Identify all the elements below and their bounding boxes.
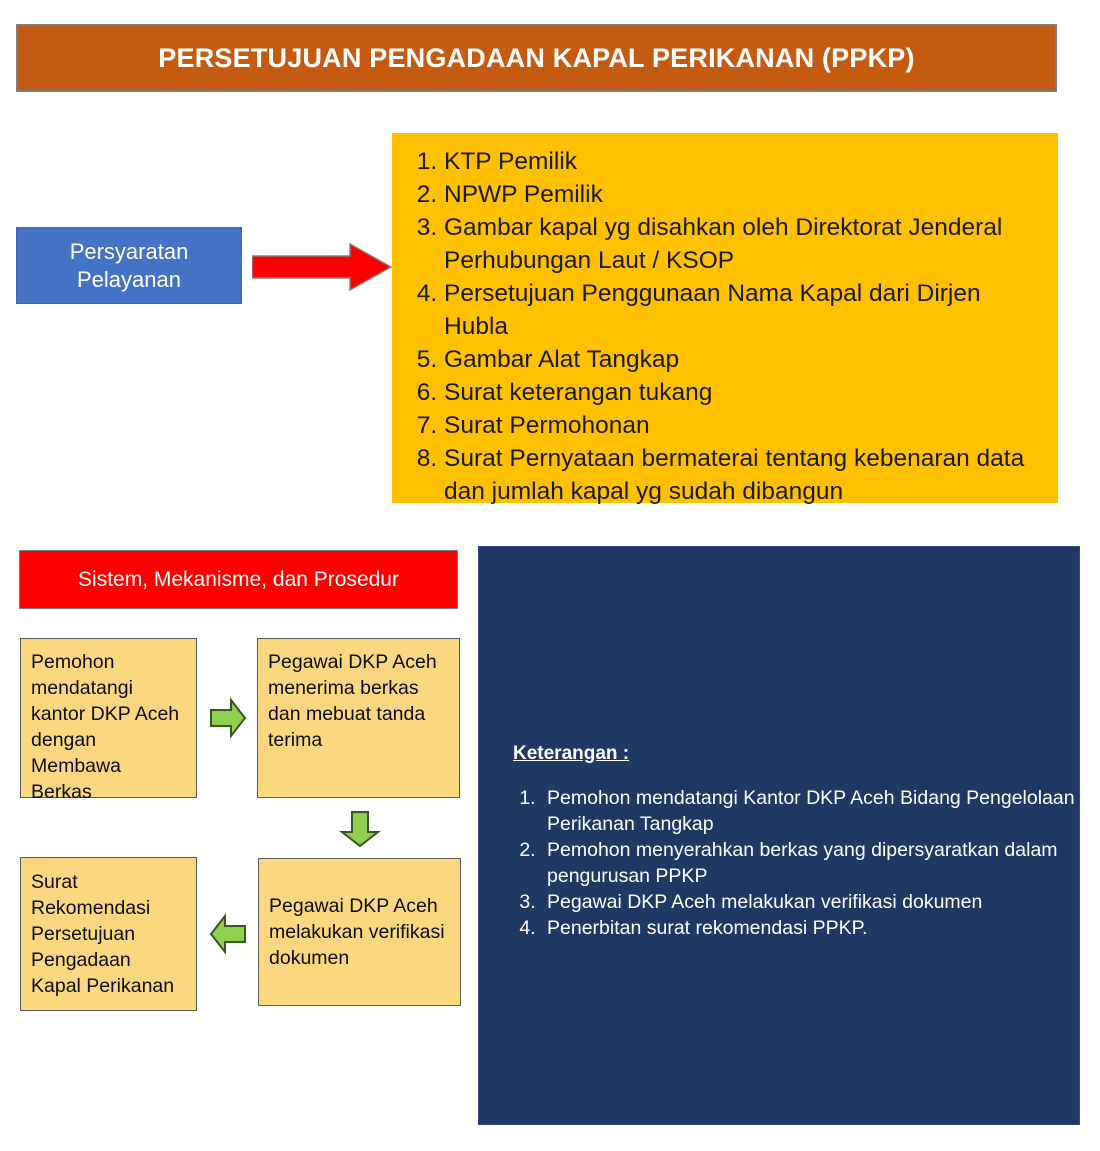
keterangan-panel: Keterangan : Pemohon mendatangi Kantor D…	[478, 546, 1080, 1125]
persyaratan-pelayanan-label-box: Persyaratan Pelayanan	[16, 227, 242, 304]
list-item: Gambar Alat Tangkap	[444, 343, 1044, 376]
page-title-banner: PERSETUJUAN PENGADAAN KAPAL PERIKANAN (P…	[16, 24, 1057, 92]
flow-box-step-3: Pegawai DKP Aceh melakukan verifikasi do…	[258, 858, 461, 1006]
flow-box-step-2: Pegawai DKP Aceh menerima berkas dan meb…	[257, 638, 460, 798]
requirements-list: KTP Pemilik NPWP Pemilik Gambar kapal yg…	[406, 145, 1044, 508]
page-title: PERSETUJUAN PENGADAAN KAPAL PERIKANAN (P…	[158, 43, 914, 74]
flow-box-step-4: Surat Rekomendasi Persetujuan Pengadaan …	[20, 857, 197, 1011]
prosedur-header-label: Sistem, Mekanisme, dan Prosedur	[78, 568, 399, 592]
list-item: Surat Pernyataan bermaterai tentang kebe…	[444, 442, 1044, 508]
list-item: KTP Pemilik	[444, 145, 1044, 178]
list-item: NPWP Pemilik	[444, 178, 1044, 211]
list-item: Gambar kapal yg disahkan oleh Direktorat…	[444, 211, 1044, 277]
prosedur-header-banner: Sistem, Mekanisme, dan Prosedur	[19, 550, 458, 609]
list-item: Surat Permohonan	[444, 409, 1044, 442]
list-item: Penerbitan surat rekomendasi PPKP.	[541, 915, 1093, 941]
green-left-arrow-icon	[209, 913, 247, 955]
green-right-arrow-icon	[209, 697, 247, 739]
list-item: Persetujuan Penggunaan Nama Kapal dari D…	[444, 277, 1044, 343]
persyaratan-pelayanan-label: Persyaratan Pelayanan	[70, 238, 189, 294]
keterangan-title: Keterangan :	[513, 743, 629, 765]
requirements-box: KTP Pemilik NPWP Pemilik Gambar kapal yg…	[392, 133, 1058, 503]
green-down-arrow-icon	[339, 810, 381, 848]
keterangan-list: Pemohon mendatangi Kantor DKP Aceh Bidan…	[505, 785, 1093, 941]
red-right-arrow-icon	[252, 243, 392, 291]
list-item: Pemohon menyerahkan berkas yang dipersya…	[541, 837, 1093, 889]
flow-box-step-1: Pemohon mendatangi kantor DKP Aceh denga…	[20, 638, 197, 798]
list-item: Surat keterangan tukang	[444, 376, 1044, 409]
list-item: Pemohon mendatangi Kantor DKP Aceh Bidan…	[541, 785, 1093, 837]
list-item: Pegawai DKP Aceh melakukan verifikasi do…	[541, 889, 1093, 915]
